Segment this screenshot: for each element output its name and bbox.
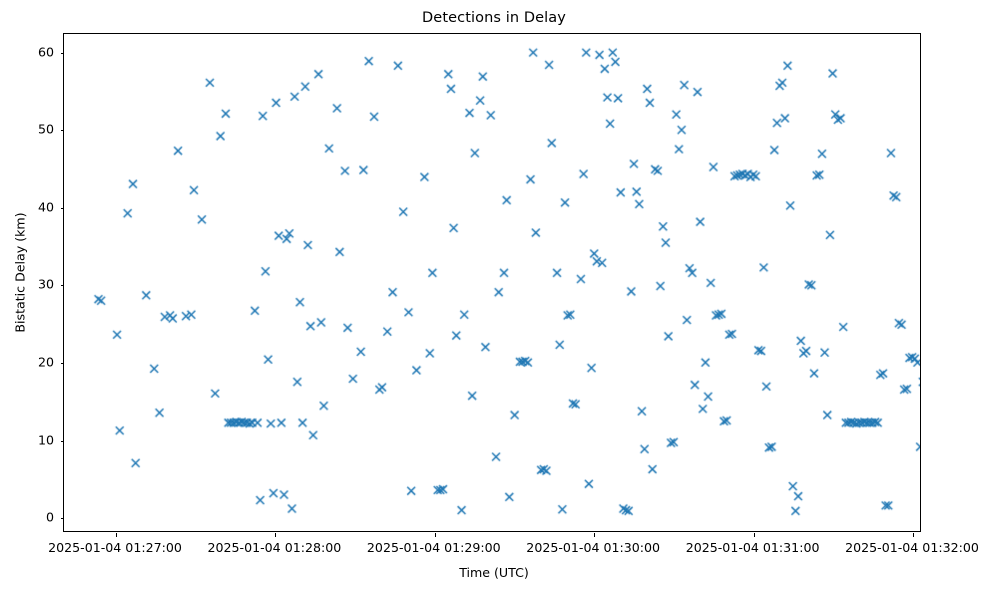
x-tick-label: 2025-01-04 01:28:00 [208, 540, 342, 555]
x-tick-labels: 2025-01-04 01:27:002025-01-04 01:28:0020… [0, 540, 988, 558]
y-tick-label: 40 [38, 199, 54, 214]
y-tick-mark [61, 441, 65, 442]
y-tick-mark [61, 285, 65, 286]
y-tick-mark [61, 518, 65, 519]
x-tick-label: 2025-01-04 01:27:00 [48, 540, 182, 555]
y-tick-mark [61, 130, 65, 131]
y-tick-mark [61, 208, 65, 209]
x-tick-mark [435, 533, 436, 537]
x-tick-mark [275, 533, 276, 537]
x-tick-mark [913, 533, 914, 537]
x-tick-label: 2025-01-04 01:30:00 [526, 540, 660, 555]
x-tick-mark [754, 533, 755, 537]
x-tick-label: 2025-01-04 01:31:00 [686, 540, 820, 555]
y-tick-label: 60 [38, 44, 54, 59]
y-axis-label: Bistatic Delay (km) [13, 123, 28, 423]
y-tick-mark [61, 53, 65, 54]
scatter-plot-canvas [64, 34, 920, 531]
y-tick-label: 50 [38, 122, 54, 137]
y-tick-mark [61, 363, 65, 364]
x-tick-mark [594, 533, 595, 537]
y-tick-label: 0 [46, 510, 54, 525]
x-axis-label: Time (UTC) [0, 565, 988, 580]
page-title: Detections in Delay [0, 10, 988, 26]
matplotlib-figure: Detections in Delay 0102030405060 2025-0… [0, 0, 988, 590]
y-tick-label: 10 [38, 432, 54, 447]
y-tick-label: 20 [38, 355, 54, 370]
x-tick-label: 2025-01-04 01:29:00 [367, 540, 501, 555]
y-tick-label: 30 [38, 277, 54, 292]
plot-axes [63, 33, 921, 532]
x-tick-label: 2025-01-04 01:32:00 [845, 540, 979, 555]
x-tick-mark [116, 533, 117, 537]
